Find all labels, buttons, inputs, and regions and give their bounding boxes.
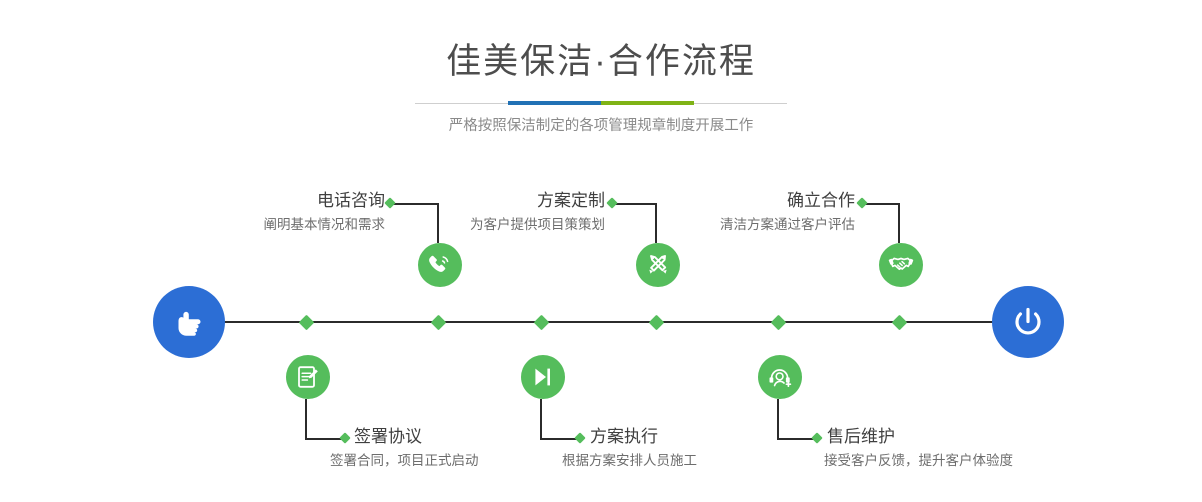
document-sign-icon xyxy=(295,364,321,390)
connector-vertical-3 xyxy=(655,203,657,243)
step-heading-5: 确立合作 xyxy=(700,190,855,211)
play-forward-icon xyxy=(530,364,556,390)
flow-start-badge xyxy=(153,286,225,358)
step-heading-1: 电话咨询 xyxy=(230,190,385,211)
connector-vertical-6 xyxy=(777,399,779,439)
connector-horizontal-1 xyxy=(390,203,439,205)
step-subtext-6: 接受客户反馈，提升客户体验度 xyxy=(824,452,1013,470)
step-node-5[interactable] xyxy=(879,243,923,287)
step-subtext-1: 阐明基本情况和需求 xyxy=(230,216,385,234)
phone-call-icon xyxy=(427,252,453,278)
customer-service-add-icon xyxy=(767,364,793,390)
step-label-2: 签署协议 签署合同，项目正式启动 xyxy=(354,426,479,470)
label-marker-5 xyxy=(856,197,867,208)
axis-marker-6 xyxy=(771,315,787,331)
handshake-icon xyxy=(888,252,914,278)
step-heading-4: 方案执行 xyxy=(590,426,697,447)
connector-horizontal-5 xyxy=(862,203,900,205)
divider-segment-blue xyxy=(508,101,601,105)
page-title: 佳美保洁·合作流程 xyxy=(0,44,1202,79)
step-node-6[interactable] xyxy=(758,355,802,399)
step-subtext-2: 签署合同，项目正式启动 xyxy=(330,452,479,470)
step-label-3: 方案定制 为客户提供项目策策划 xyxy=(450,190,605,234)
step-label-6: 售后维护 接受客户反馈，提升客户体验度 xyxy=(827,426,1013,470)
pointing-hand-icon xyxy=(169,302,209,342)
axis-marker-3 xyxy=(649,315,665,331)
connector-horizontal-3 xyxy=(612,203,657,205)
axis-marker-1 xyxy=(431,315,447,331)
step-label-5: 确立合作 清洁方案通过客户评估 xyxy=(700,190,855,234)
connector-vertical-1 xyxy=(437,203,439,243)
axis-marker-4 xyxy=(534,315,550,331)
step-heading-3: 方案定制 xyxy=(450,190,605,211)
label-marker-4 xyxy=(574,432,585,443)
step-subtext-5: 清洁方案通过客户评估 xyxy=(700,216,855,234)
title-divider xyxy=(415,101,787,105)
step-subtext-4: 根据方案安排人员施工 xyxy=(562,452,697,470)
step-label-1: 电话咨询 阐明基本情况和需求 xyxy=(230,190,385,234)
step-heading-6: 售后维护 xyxy=(827,426,1013,447)
step-heading-2: 签署协议 xyxy=(354,426,479,447)
pencil-ruler-icon xyxy=(645,252,671,278)
power-icon xyxy=(1008,302,1048,342)
flow-end-badge xyxy=(992,286,1064,358)
axis-marker-2 xyxy=(299,315,315,331)
step-label-4: 方案执行 根据方案安排人员施工 xyxy=(590,426,697,470)
step-node-3[interactable] xyxy=(636,243,680,287)
label-marker-3 xyxy=(606,197,617,208)
header: 佳美保洁·合作流程 严格按照保洁制定的各项管理规章制度开展工作 xyxy=(0,0,1202,134)
label-marker-2 xyxy=(339,432,350,443)
connector-vertical-5 xyxy=(898,203,900,243)
timeline-axis xyxy=(160,321,1042,323)
step-node-2[interactable] xyxy=(286,355,330,399)
connector-vertical-4 xyxy=(540,399,542,439)
step-node-4[interactable] xyxy=(521,355,565,399)
divider-segment-green xyxy=(601,101,694,105)
step-node-1[interactable] xyxy=(418,243,462,287)
label-marker-6 xyxy=(811,432,822,443)
connector-vertical-2 xyxy=(305,399,307,439)
process-flow-infographic: 佳美保洁·合作流程 严格按照保洁制定的各项管理规章制度开展工作 xyxy=(0,0,1202,502)
axis-marker-5 xyxy=(892,315,908,331)
page-subtitle: 严格按照保洁制定的各项管理规章制度开展工作 xyxy=(0,119,1202,134)
label-marker-1 xyxy=(384,197,395,208)
step-subtext-3: 为客户提供项目策策划 xyxy=(450,216,605,234)
